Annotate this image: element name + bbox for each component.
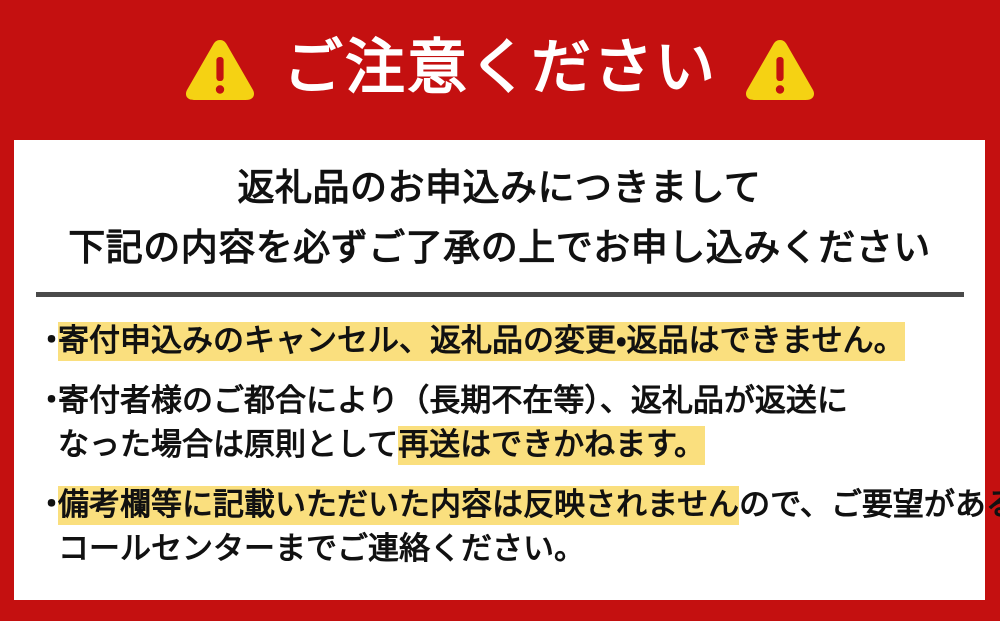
list-item: ・備考欄等に記載いただいた内容は反映されませんので、ご要望がある際はコールセンタ…: [36, 483, 985, 571]
warning-triangle-icon: [183, 37, 257, 103]
list-item-text: 備考欄等に記載いただいた内容は反映されませんので、ご要望がある際はコールセンター…: [58, 483, 1000, 571]
plain-text: なった場合は原則として: [58, 427, 398, 463]
plain-text: ので、ご要望がある際は: [739, 487, 1000, 523]
notice-content-panel: 返礼品のお申込みにつきまして 下記の内容を必ずご了承の上でお申し込みください ・…: [14, 140, 985, 600]
highlighted-text: 寄付申込みのキャンセル、返礼品の変更・返品はできません。: [58, 322, 905, 361]
highlighted-text: 備考欄等に記載いただいた内容は反映されません: [58, 486, 739, 525]
heading-block: 返礼品のお申込みにつきまして 下記の内容を必ずご了承の上でお申し込みください: [14, 140, 985, 278]
list-item-line: 寄付申込みのキャンセル、返礼品の変更・返品はできません。: [58, 319, 985, 363]
bullet-marker: ・: [36, 379, 58, 423]
heading-line-2: 下記の内容を必ずご了承の上でお申し込みください: [14, 218, 985, 278]
list-item-line: コールセンターまでご連絡ください。: [58, 527, 1000, 571]
warning-triangle-icon: [743, 37, 817, 103]
plain-text: コールセンターまでご連絡ください。: [58, 531, 585, 567]
list-item-text: 寄付申込みのキャンセル、返礼品の変更・返品はできません。: [58, 319, 985, 363]
heading-line-1: 返礼品のお申込みにつきまして: [14, 158, 985, 218]
list-item-line: 寄付者様のご都合により（長期不在等）、返礼品が返送に: [58, 379, 985, 423]
list-item: ・寄付申込みのキャンセル、返礼品の変更・返品はできません。: [36, 319, 985, 363]
notice-bullet-list: ・寄付申込みのキャンセル、返礼品の変更・返品はできません。・寄付者様のご都合によ…: [14, 297, 985, 571]
list-item-line: なった場合は原則として再送はできかねます。: [58, 423, 985, 467]
page-title: ご注意ください: [283, 38, 717, 102]
bullet-marker: ・: [36, 483, 58, 527]
notice-banner: ご注意ください 返礼品のお申込みにつきまして 下記の内容を必ずご了承の上でお申し…: [0, 0, 1000, 621]
bullet-marker: ・: [36, 319, 58, 363]
plain-text: 寄付者様のご都合により（長期不在等）、返礼品が返送に: [58, 383, 848, 419]
list-item-line: 備考欄等に記載いただいた内容は反映されませんので、ご要望がある際は: [58, 483, 1000, 527]
highlighted-text: 再送はできかねます。: [398, 426, 705, 465]
list-item-text: 寄付者様のご都合により（長期不在等）、返礼品が返送になった場合は原則として再送は…: [58, 379, 985, 467]
banner-header: ご注意ください: [0, 0, 1000, 140]
list-item: ・寄付者様のご都合により（長期不在等）、返礼品が返送になった場合は原則として再送…: [36, 379, 985, 467]
